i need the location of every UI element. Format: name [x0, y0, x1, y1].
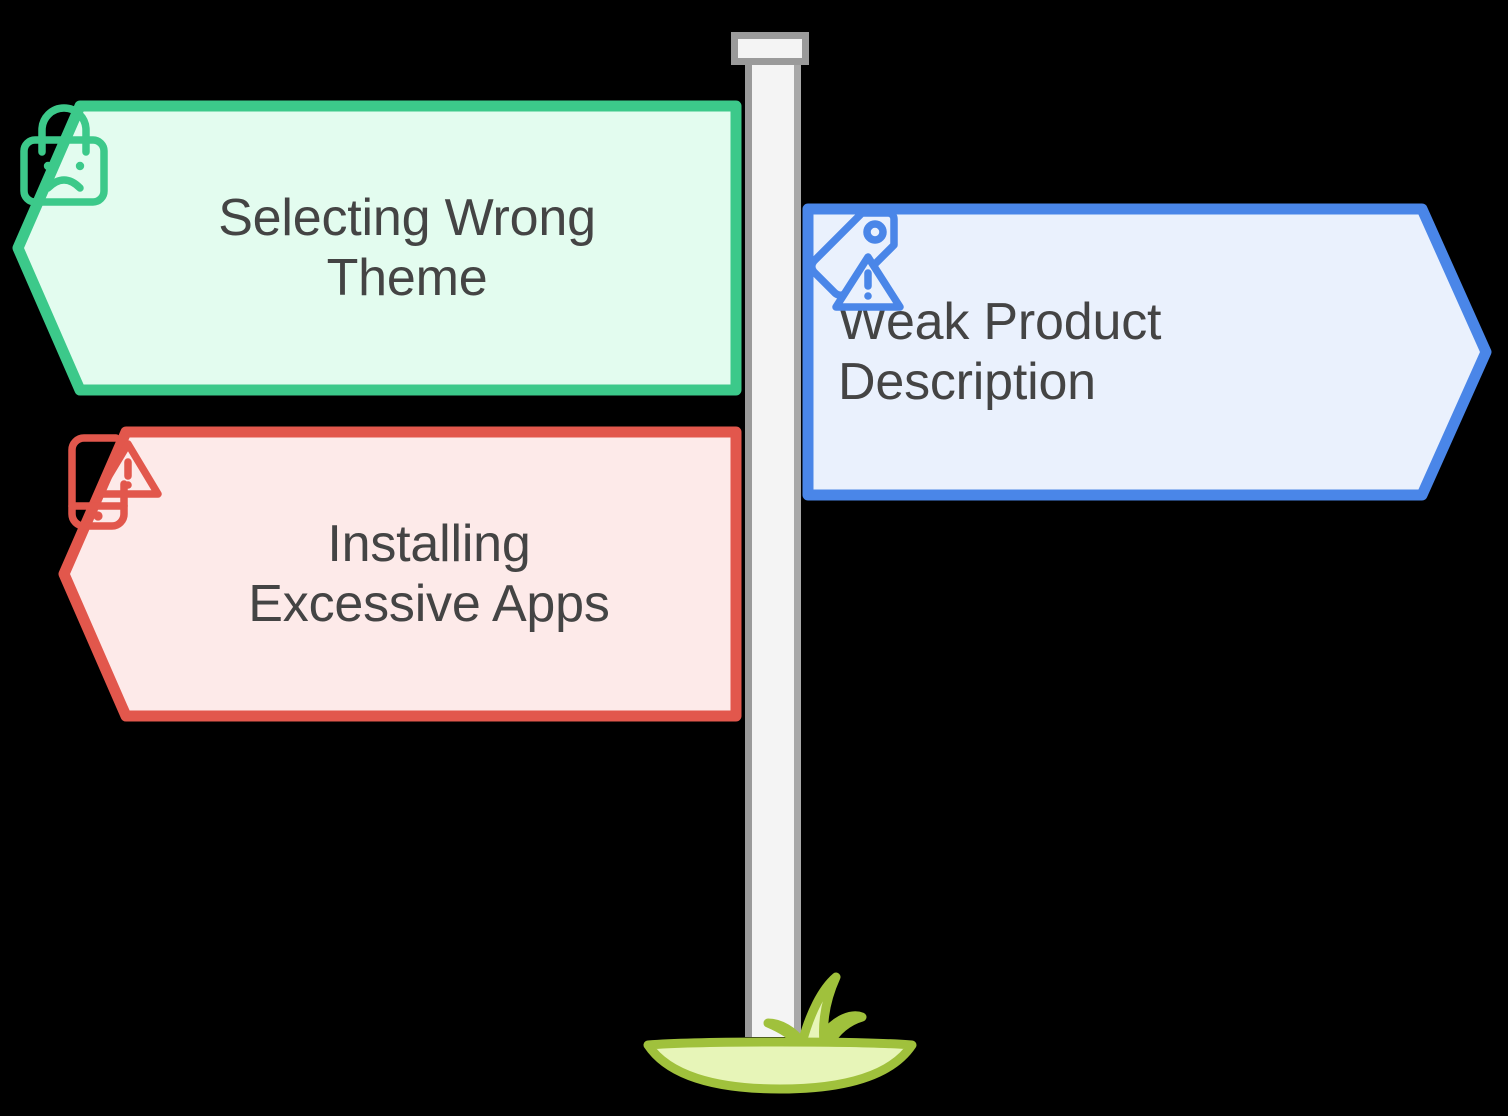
sign-label-installing-excessive-apps: Installing Excessive Apps — [142, 514, 716, 635]
sign-selecting-wrong-theme[interactable]: Selecting Wrong Theme — [12, 100, 742, 396]
sign-label-selecting-wrong-theme: Selecting Wrong Theme — [108, 188, 706, 309]
grass-mound — [630, 955, 930, 1100]
sign-label-weak-product-description: Weak Product Description — [838, 292, 1382, 413]
signpost-diagram: Selecting Wrong Theme Installing Excessi… — [0, 0, 1508, 1116]
price-tag-warning-icon — [802, 203, 910, 315]
sign-installing-excessive-apps[interactable]: Installing Excessive Apps — [58, 426, 742, 722]
signpost-pole — [745, 62, 801, 1037]
shopping-bag-sad-face-icon — [12, 100, 116, 212]
sign-weak-product-description[interactable]: Weak Product Description — [802, 203, 1492, 501]
mobile-phone-warning-icon — [58, 426, 166, 538]
signpost-pole-cap — [731, 32, 809, 65]
